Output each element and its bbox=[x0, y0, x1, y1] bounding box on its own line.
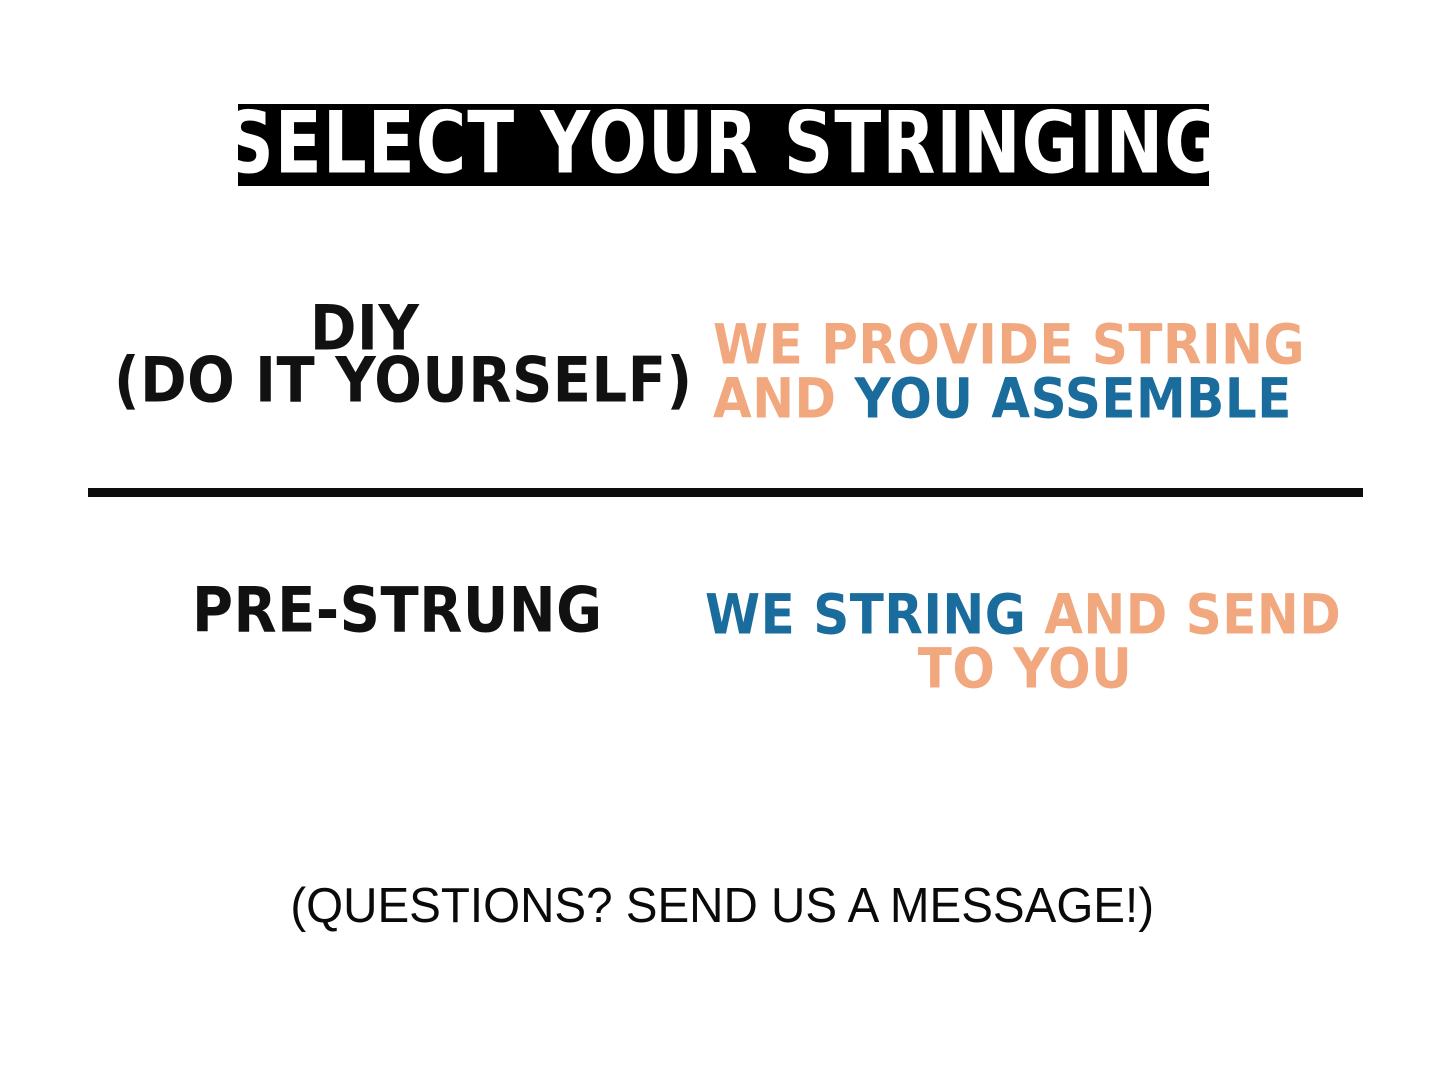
footer-note: (QUESTIONS? SEND US A MESSAGE!) bbox=[0, 878, 1445, 934]
footer-note-text: (QUESTIONS? SEND US A MESSAGE!) bbox=[291, 878, 1155, 934]
desc-segment-you-assemble: YOU ASSEMBLE bbox=[854, 367, 1291, 431]
option-diy-description-line2: AND YOU ASSEMBLE bbox=[713, 369, 1305, 428]
option-prestrung-description-line1: WE STRING AND SEND bbox=[705, 585, 1345, 644]
option-diy-description: WE PROVIDE STRING AND YOU ASSEMBLE bbox=[713, 315, 1305, 423]
option-diy-label-line2[interactable]: (DO IT YOURSELF) bbox=[114, 350, 693, 413]
option-prestrung-label[interactable]: PRE-STRUNG bbox=[192, 580, 603, 643]
title-banner: SELECT YOUR STRINGING bbox=[238, 104, 1209, 186]
desc-segment-to-you: TO YOU bbox=[918, 637, 1133, 701]
option-diy-description-line1: WE PROVIDE STRING bbox=[713, 315, 1305, 374]
page-title: SELECT YOUR STRINGING bbox=[238, 104, 1209, 186]
option-prestrung-description-line2: TO YOU bbox=[705, 639, 1345, 698]
option-prestrung-description: WE STRING AND SEND TO YOU bbox=[705, 585, 1345, 693]
section-divider bbox=[88, 488, 1363, 497]
poster-canvas: SELECT YOUR STRINGING DIY (DO IT YOURSEL… bbox=[0, 0, 1445, 1084]
desc-segment-and: AND bbox=[713, 367, 854, 431]
